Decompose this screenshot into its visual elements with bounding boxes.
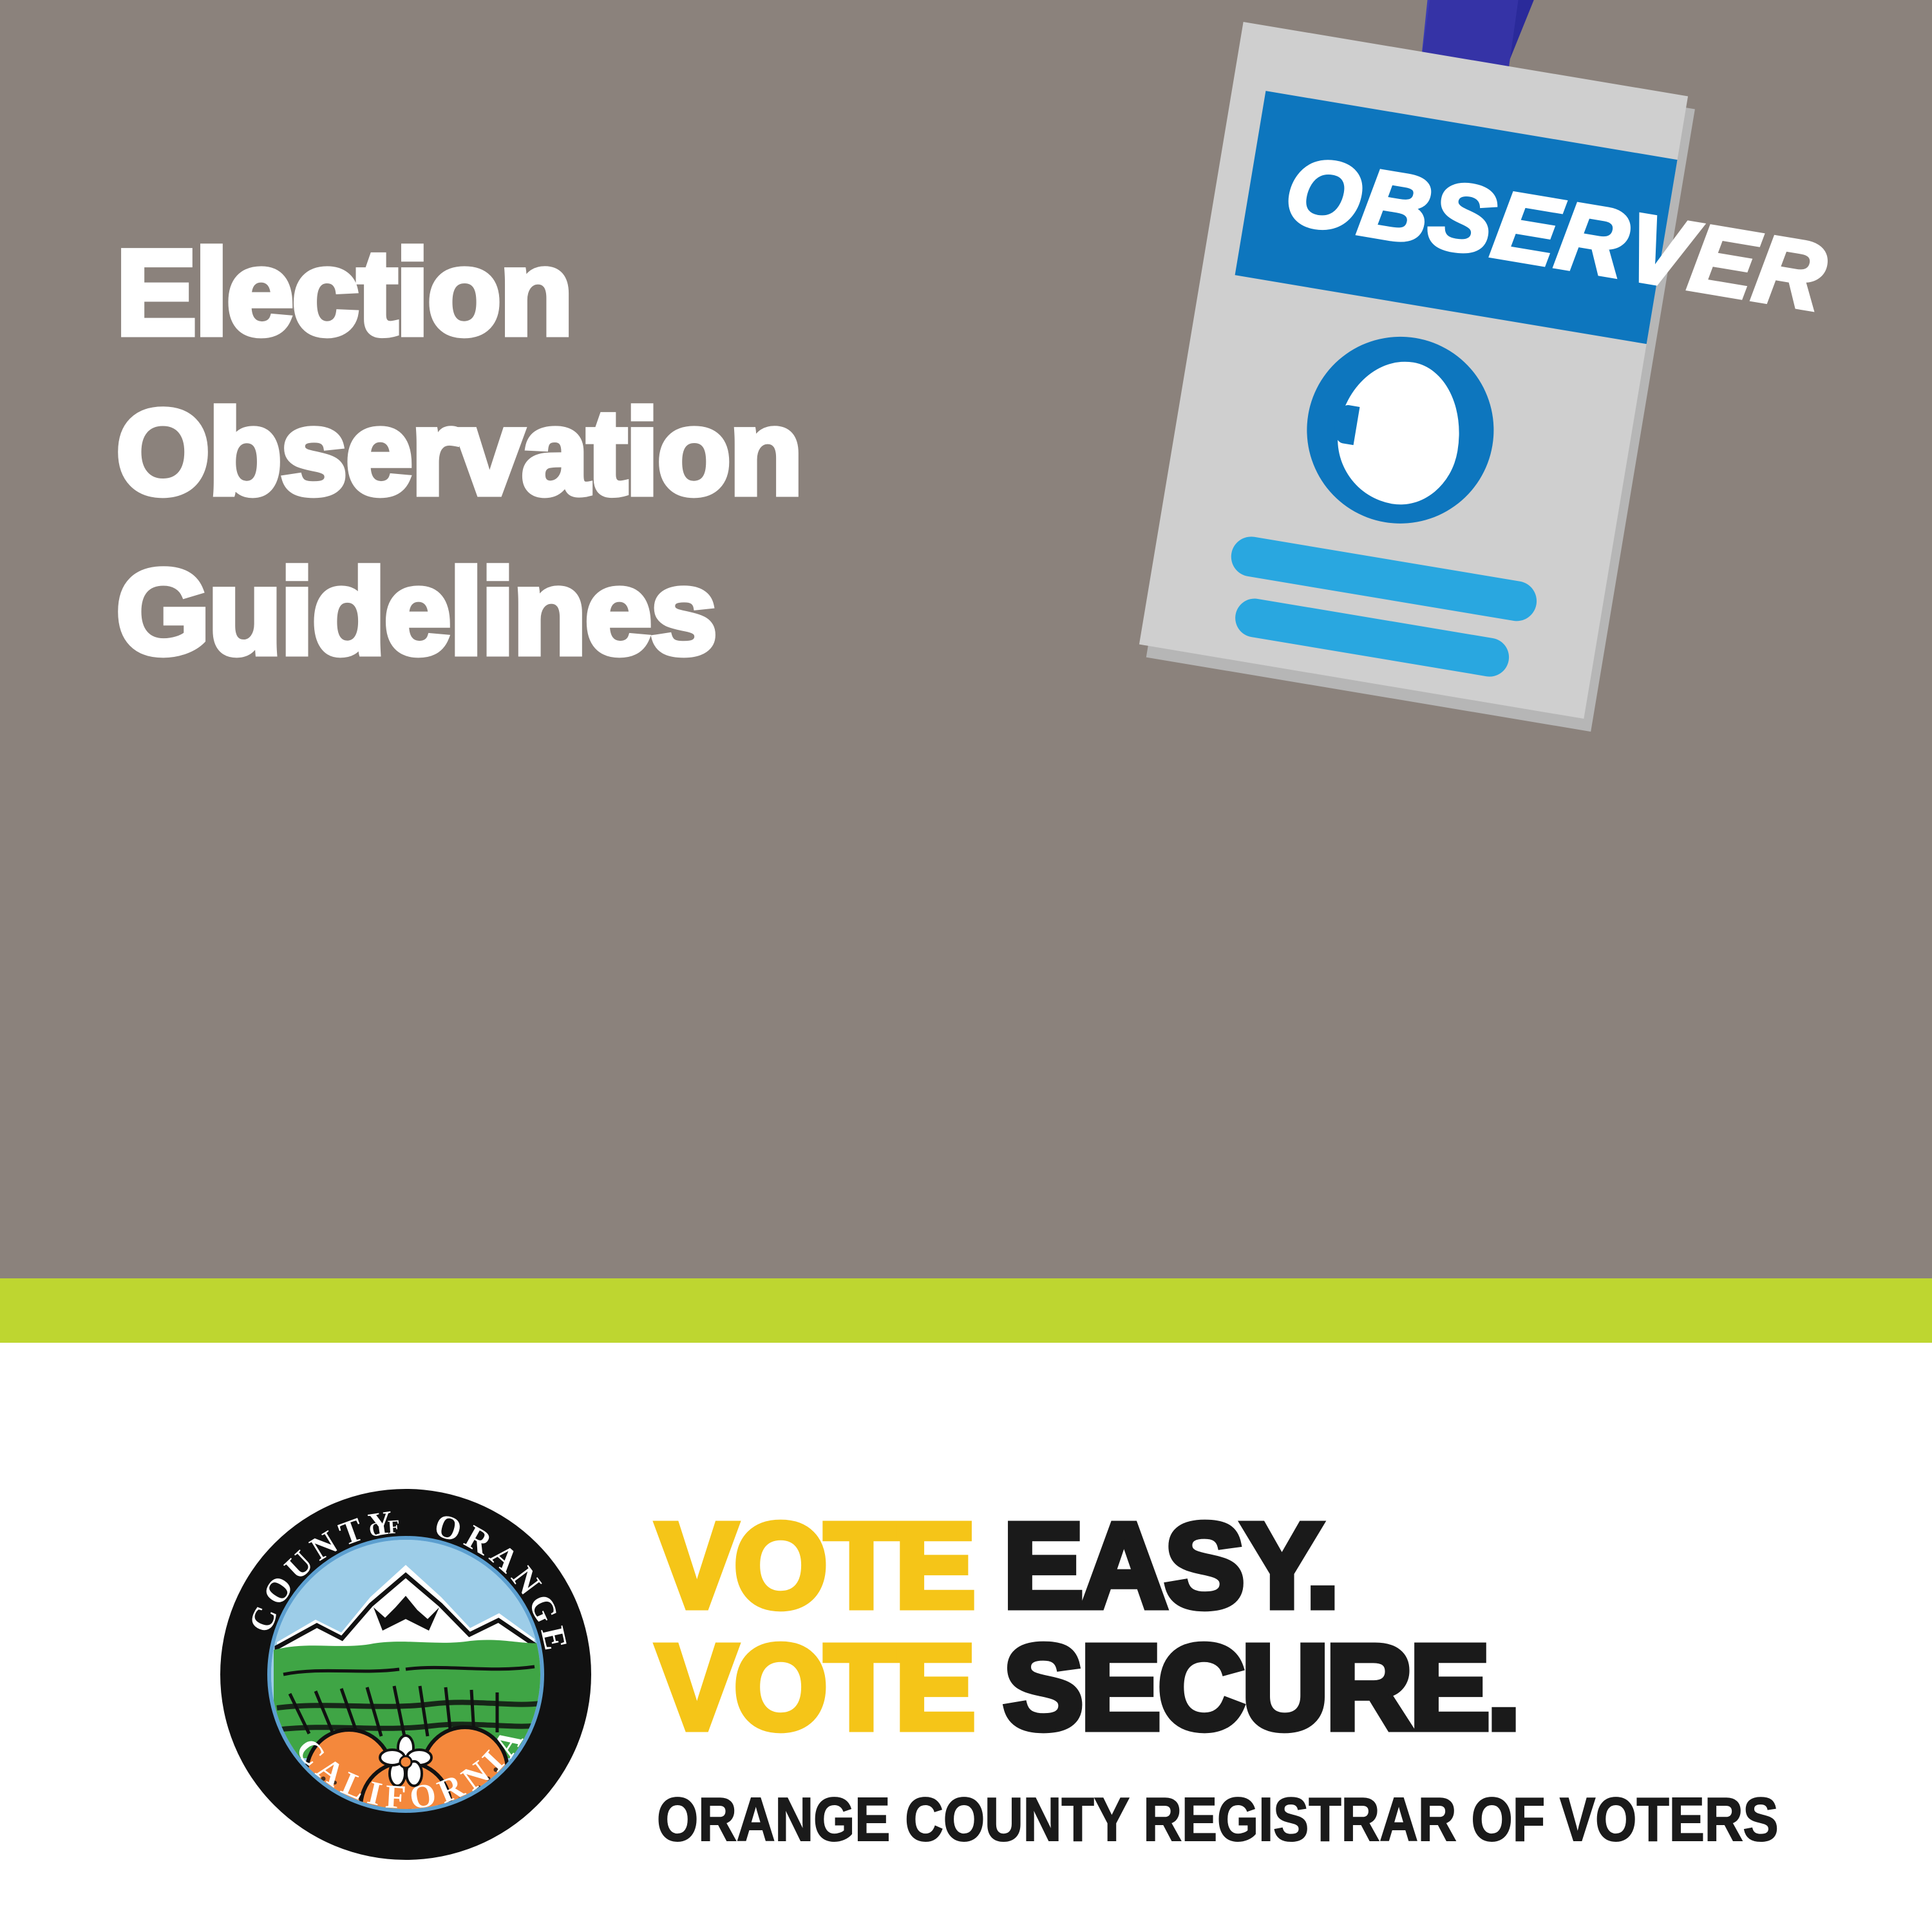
registrar-of-voters-label: ORANGE COUNTY REGISTRAR OF VOTERS <box>657 1785 1709 1855</box>
slogan-secure: SECURE. <box>1003 1621 1518 1754</box>
badge-card: OBSERVER <box>1139 22 1688 719</box>
slogan-vote-2: VOTE <box>657 1621 972 1754</box>
vote-easy-vote-secure-lockup: VOTE EASY. VOTE SECURE. ORANGE COUNTY RE… <box>657 1510 1880 1855</box>
poster-canvas: Election Observation Guidelines OBSERVER <box>0 0 1932 1932</box>
slogan-line-1: VOTE EASY. <box>657 1510 1880 1623</box>
hero-section: Election Observation Guidelines OBSERVER <box>0 0 1932 1278</box>
observer-badge-illustration: OBSERVER <box>966 0 1932 1278</box>
slogan-line-2: VOTE SECURE. <box>657 1632 1880 1745</box>
green-divider <box>0 1278 1932 1343</box>
footer-section: COUNTY OF ORANGE CALIFORNIA VOTE EASY. V… <box>0 1343 1932 1932</box>
slogan-easy: EASY. <box>1003 1499 1337 1633</box>
county-of-orange-seal-icon: COUNTY OF ORANGE CALIFORNIA <box>213 1481 599 1868</box>
slogan-vote-1: VOTE <box>657 1499 972 1633</box>
